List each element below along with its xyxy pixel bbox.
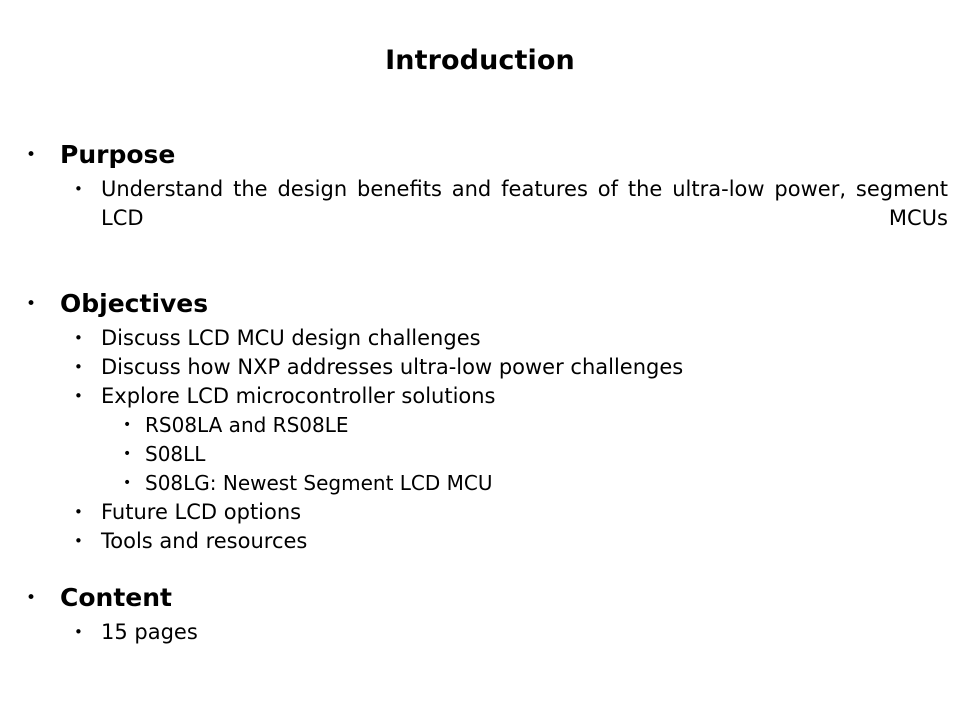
bullet-glyph-icon: • bbox=[26, 289, 36, 320]
list-item: • S08LL bbox=[22, 440, 938, 469]
bullet-glyph-icon: • bbox=[26, 583, 36, 614]
list-item-label: Tools and resources bbox=[101, 527, 938, 556]
list-item-label: RS08LA and RS08LE bbox=[145, 411, 938, 440]
list-item: • Tools and resources bbox=[22, 527, 938, 556]
bullet-glyph-icon: • bbox=[74, 527, 83, 556]
list-item: • Future LCD options bbox=[22, 498, 938, 527]
slide-body: • Purpose • Understand the design benefi… bbox=[22, 140, 938, 647]
bullet-glyph-icon: • bbox=[26, 140, 36, 171]
section-heading-content: • Content bbox=[22, 583, 938, 615]
section-heading-objectives: • Objectives bbox=[22, 289, 938, 321]
bullet-glyph-icon: • bbox=[74, 175, 83, 204]
section-heading-purpose: • Purpose bbox=[22, 140, 938, 172]
list-item-label: Future LCD options bbox=[101, 498, 938, 527]
bullet-glyph-icon: • bbox=[74, 618, 83, 647]
list-item-label: Explore LCD microcontroller solutions bbox=[101, 382, 938, 411]
section-heading-label: Content bbox=[60, 583, 938, 613]
list-item: • Understand the design benefits and fea… bbox=[22, 175, 938, 262]
list-item-label: Understand the design benefits and featu… bbox=[101, 175, 948, 262]
list-item: • Explore LCD microcontroller solutions bbox=[22, 382, 938, 411]
list-item-label: Discuss LCD MCU design challenges bbox=[101, 324, 938, 353]
list-item-label: Discuss how NXP addresses ultra-low powe… bbox=[101, 353, 938, 382]
page-title: Introduction bbox=[0, 46, 960, 76]
list-item-label: S08LL bbox=[145, 440, 938, 469]
bullet-glyph-icon: • bbox=[123, 411, 131, 440]
bullet-glyph-icon: • bbox=[123, 469, 131, 498]
list-item: • S08LG: Newest Segment LCD MCU bbox=[22, 469, 938, 498]
bullet-glyph-icon: • bbox=[74, 382, 83, 411]
section-heading-label: Purpose bbox=[60, 140, 938, 170]
list-item-label: S08LG: Newest Segment LCD MCU bbox=[145, 469, 938, 498]
list-item: • RS08LA and RS08LE bbox=[22, 411, 938, 440]
bullet-glyph-icon: • bbox=[123, 440, 131, 469]
section-heading-label: Objectives bbox=[60, 289, 938, 319]
list-item: • 15 pages bbox=[22, 618, 938, 647]
list-item-label: 15 pages bbox=[101, 618, 938, 647]
bullet-glyph-icon: • bbox=[74, 353, 83, 382]
slide: Introduction • Purpose • Understand the … bbox=[0, 0, 960, 720]
bullet-glyph-icon: • bbox=[74, 498, 83, 527]
bullet-glyph-icon: • bbox=[74, 324, 83, 353]
list-item: • Discuss how NXP addresses ultra-low po… bbox=[22, 353, 938, 382]
list-item: • Discuss LCD MCU design challenges bbox=[22, 324, 938, 353]
